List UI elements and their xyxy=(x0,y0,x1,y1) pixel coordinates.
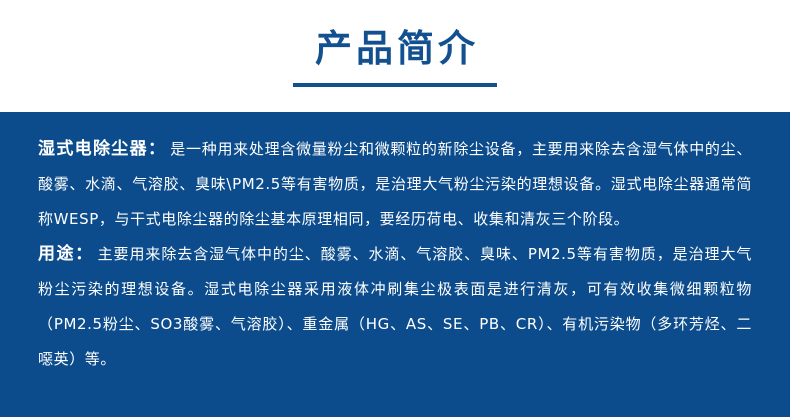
description-panel: 湿式电除尘器：是一种用来处理含微量粉尘和微颗粒的新除尘设备，主要用来除去含湿气体… xyxy=(0,112,790,417)
paragraph-label-wet-esp: 湿式电除尘器： xyxy=(38,139,166,159)
product-intro-page: 产品简介 湿式电除尘器：是一种用来处理含微量粉尘和微颗粒的新除尘设备，主要用来除… xyxy=(0,0,790,417)
title-underline-rule xyxy=(293,83,497,87)
paragraph-body-usage: 主要用来除去含湿气体中的尘、酸雾、水滴、气溶胶、臭味、PM2.5等有害物质，是治… xyxy=(38,245,752,368)
paragraph-wet-esp: 湿式电除尘器：是一种用来处理含微量粉尘和微颗粒的新除尘设备，主要用来除去含湿气体… xyxy=(38,132,752,237)
paragraph-usage: 用途：主要用来除去含湿气体中的尘、酸雾、水滴、气溶胶、臭味、PM2.5等有害物质… xyxy=(38,237,752,377)
page-header: 产品简介 xyxy=(0,0,790,112)
paragraph-label-usage: 用途： xyxy=(38,244,94,264)
description-text-block: 湿式电除尘器：是一种用来处理含微量粉尘和微颗粒的新除尘设备，主要用来除去含湿气体… xyxy=(38,132,752,377)
page-title: 产品简介 xyxy=(311,27,479,71)
